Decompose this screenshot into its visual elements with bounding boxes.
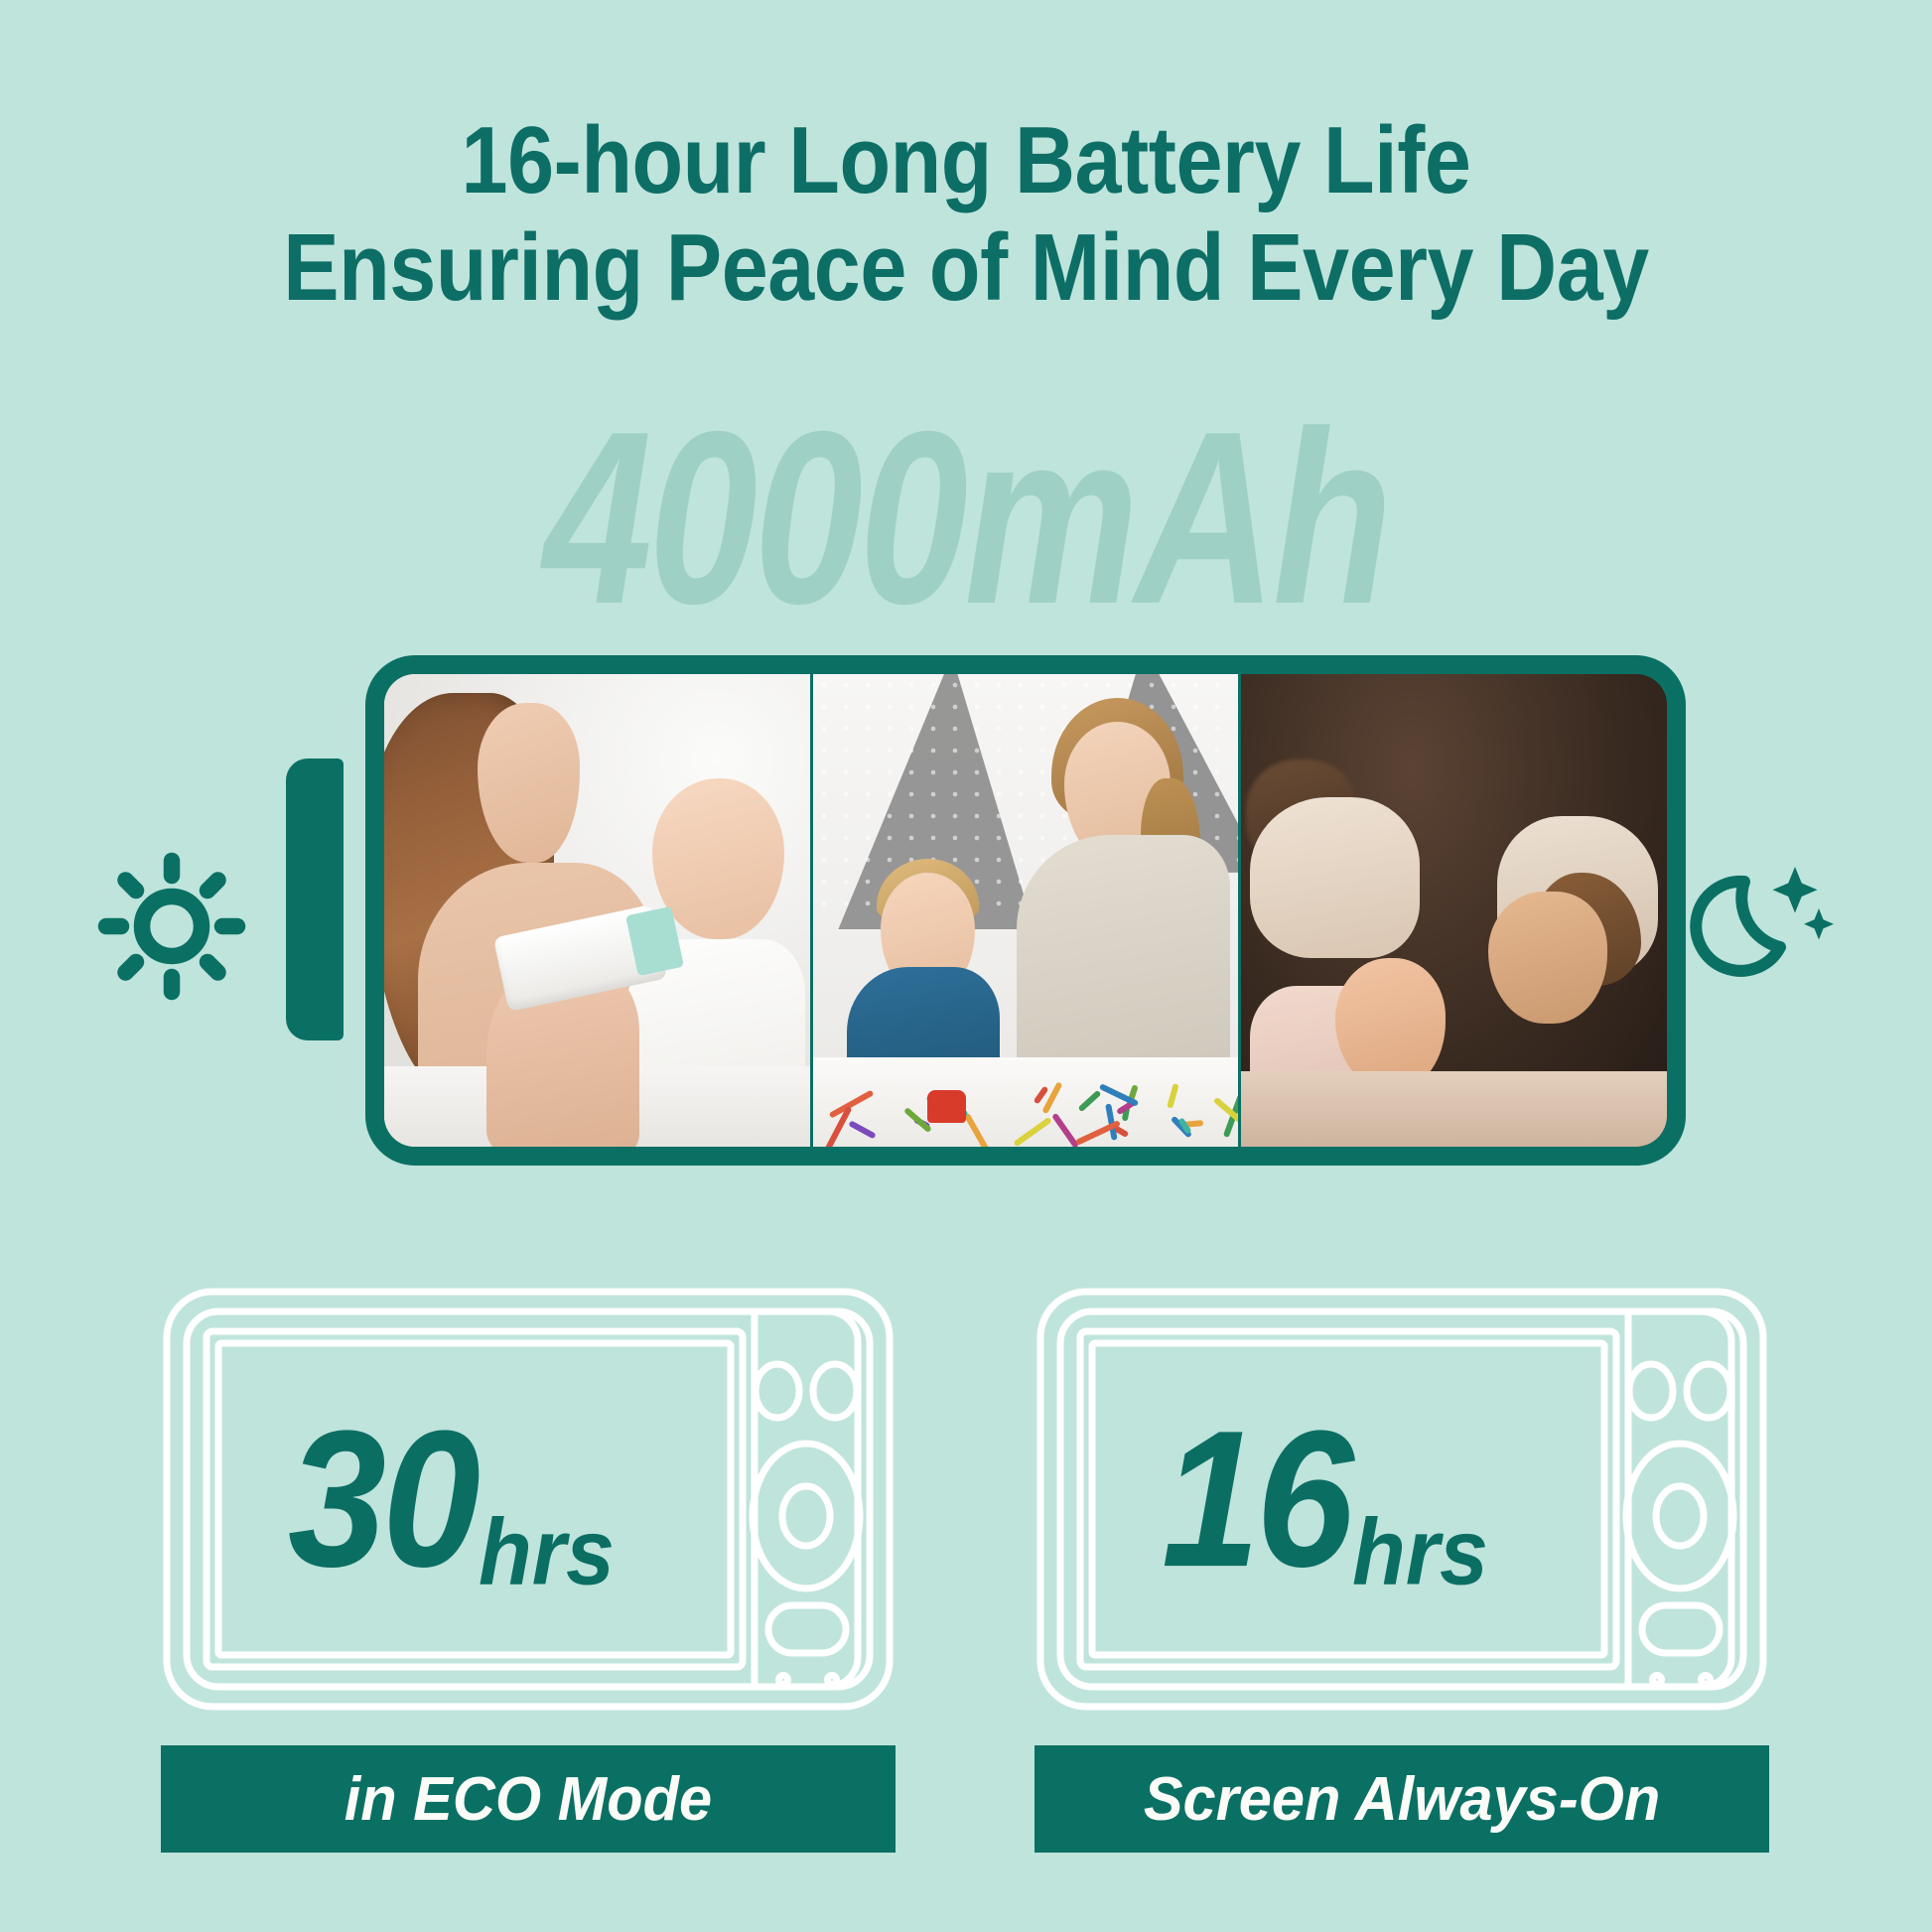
runtime-label-screen-always-on: Screen Always-On — [1035, 1745, 1769, 1853]
photo-daytime-play — [813, 674, 1242, 1147]
runtime-label-text-always-on: Screen Always-On — [1144, 1764, 1660, 1835]
photo-nighttime-sleep — [1241, 674, 1667, 1147]
monitor-outline-icon — [161, 1286, 896, 1713]
capacity-watermark: 4000mAh — [58, 395, 1873, 641]
battery-illustration — [0, 655, 1932, 1172]
moon-stars-icon — [1688, 852, 1837, 1001]
monitor-outline-icon — [1035, 1286, 1769, 1713]
runtime-card-eco-mode: 30 hrs — [161, 1286, 896, 1713]
headline-line-2: Ensuring Peace of Mind Every Day — [116, 214, 1816, 322]
photo-daytime-feeding — [384, 674, 813, 1147]
battery-body — [365, 655, 1686, 1166]
runtime-card-screen-always-on: 16 hrs — [1035, 1286, 1769, 1713]
runtime-label-text-eco: in ECO Mode — [345, 1764, 712, 1835]
runtime-label-eco-mode: in ECO Mode — [161, 1745, 896, 1853]
sun-icon — [97, 852, 246, 1001]
headline-line-1: 16-hour Long Battery Life — [116, 107, 1816, 214]
page-title: 16-hour Long Battery Life Ensuring Peace… — [116, 107, 1816, 323]
battery-terminal — [286, 759, 344, 1040]
